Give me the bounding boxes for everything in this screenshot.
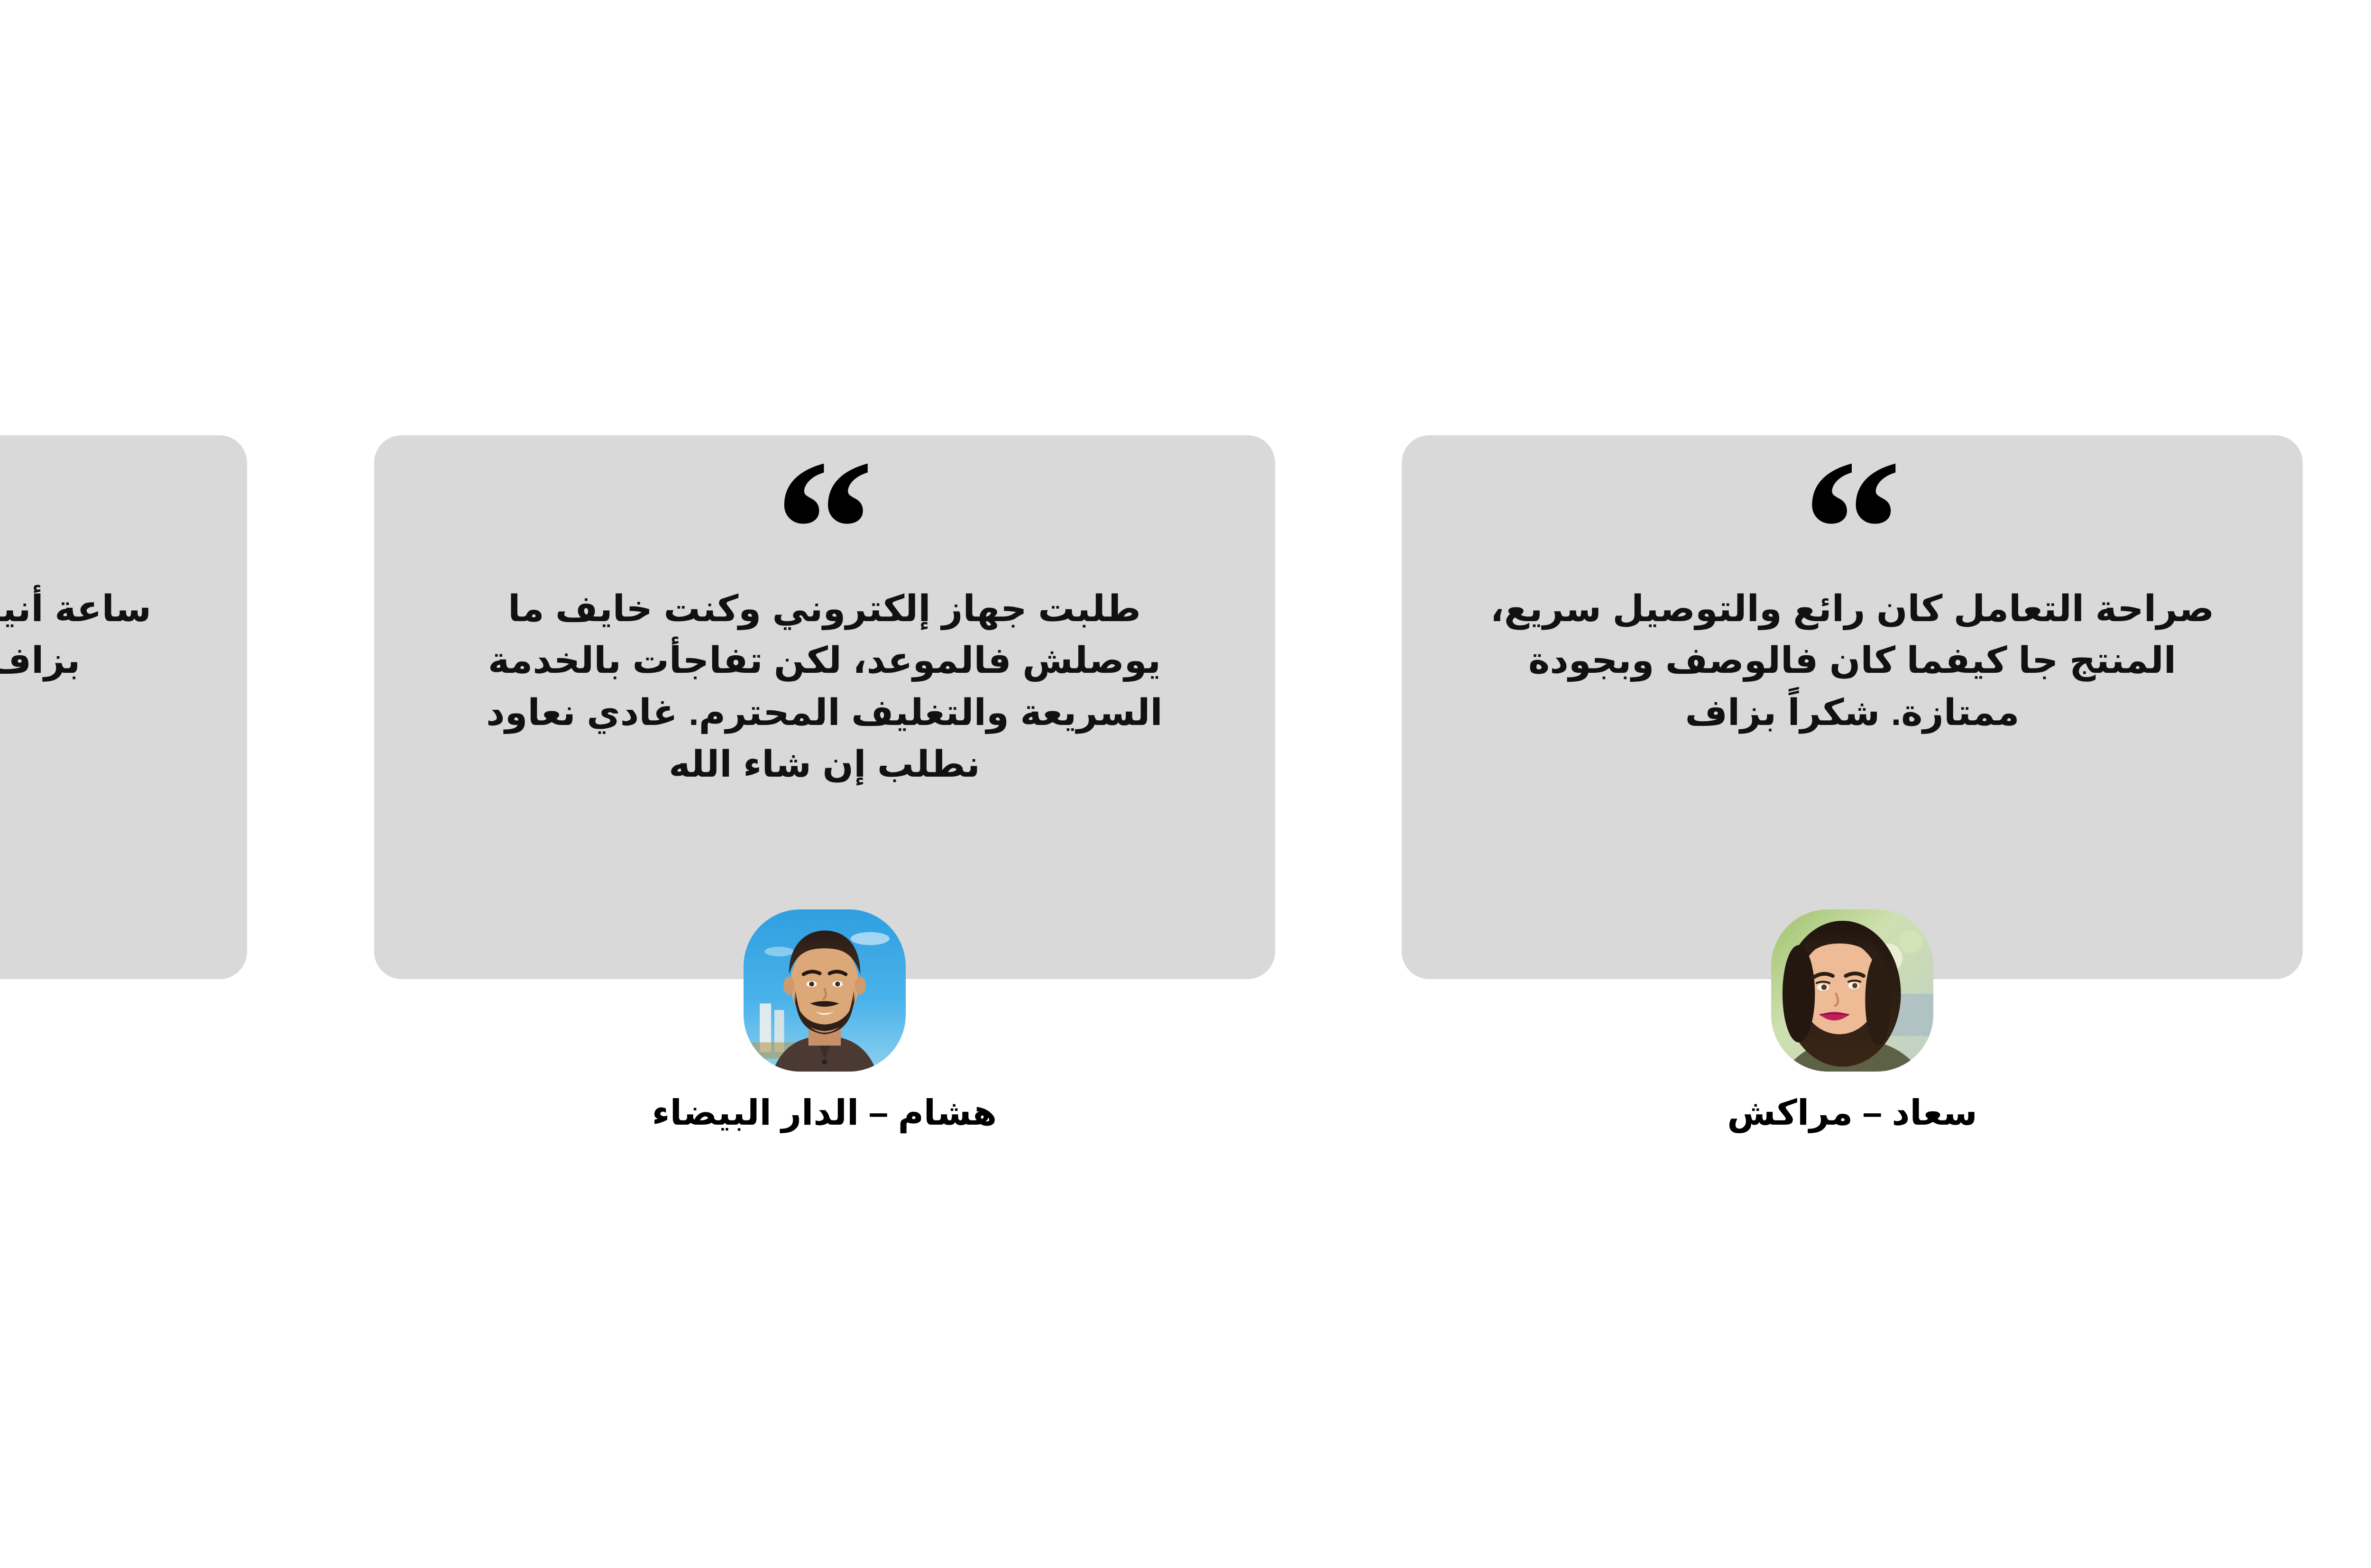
testimonial-item: “ صراحة التعامل كان رائع والتوصيل سريع، … [1402, 435, 2303, 1134]
quote-mark-icon: “ [775, 458, 874, 583]
quote-mark-icon: “ [1802, 458, 1902, 583]
testimonial-author: هشام – الدار البيضاء [652, 1092, 997, 1134]
avatar-image-souad [1771, 909, 1933, 1072]
testimonial-card: “ صراحة التعامل كان رائع والتوصيل سريع، … [1402, 435, 2303, 979]
testimonial-card: “ ساعة أنيقة وجودة ممتازة، زوجي عجباتو ب… [0, 435, 247, 979]
avatar [744, 909, 906, 1072]
testimonials-section: “ ساعة أنيقة وجودة ممتازة، زوجي عجباتو ب… [0, 0, 2371, 1568]
testimonial-card: “ طلبت جهاز إلكتروني وكنت خايف ما يوصلش … [374, 435, 1275, 979]
avatar-image-hicham [744, 909, 906, 1072]
avatar [1771, 909, 1933, 1072]
testimonial-quote-text: ساعة أنيقة وجودة ممتازة، زوجي عجباتو بزا… [0, 583, 176, 687]
testimonial-quote-text: صراحة التعامل كان رائع والتوصيل سريع، ال… [1473, 583, 2232, 739]
testimonial-item: “ ساعة أنيقة وجودة ممتازة، زوجي عجباتو ب… [0, 435, 247, 1134]
testimonial-quote-text: طلبت جهاز إلكتروني وكنت خايف ما يوصلش فا… [445, 583, 1204, 790]
testimonial-item: “ طلبت جهاز إلكتروني وكنت خايف ما يوصلش … [374, 435, 1275, 1134]
testimonial-author: سعاد – مراكش [1727, 1092, 1977, 1134]
testimonials-card-row: “ ساعة أنيقة وجودة ممتازة، زوجي عجباتو ب… [0, 435, 2303, 1265]
